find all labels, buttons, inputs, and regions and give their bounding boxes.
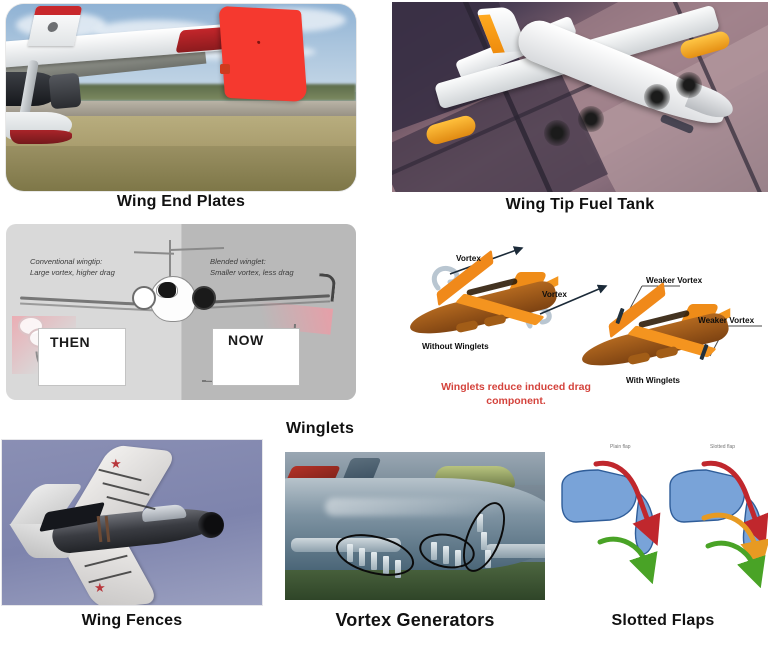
wing-fences-image: ★ ★ <box>2 440 262 605</box>
label-with-winglets: With Winglets <box>626 376 680 385</box>
caption-winglets: Winglets <box>240 420 400 438</box>
label-vortex-2: Vortex <box>542 290 567 299</box>
caption-slotted-flaps: Slotted Flaps <box>558 612 768 630</box>
engine-left <box>132 286 156 310</box>
fin-logo-icon <box>47 22 59 32</box>
runway-marker-cone <box>220 64 230 74</box>
engine-dark-left <box>158 282 176 298</box>
slotted-flaps-diagram: Plain flap Slotted flap <box>558 436 768 608</box>
caption-vortex-generators: Vortex Generators <box>285 610 545 631</box>
red-star-insignia: ★ <box>94 580 106 596</box>
slotted-flaps-svg <box>558 436 768 608</box>
wing-pod <box>49 73 82 109</box>
horizontal-stabilizer-left <box>134 251 174 254</box>
label-conventional-wingtip: Conventional wingtip: Large vortex, high… <box>30 256 115 278</box>
propeller <box>676 72 702 98</box>
rivet-dot <box>257 41 260 44</box>
propeller <box>544 120 570 146</box>
note-winglets-reduce-drag: Winglets reduce induced drag component. <box>416 380 616 408</box>
caption-wing-end-plates: Wing End Plates <box>6 193 356 211</box>
label-without-winglets: Without Winglets <box>422 342 489 351</box>
vortex-generators-image <box>285 452 545 600</box>
propeller <box>644 84 670 110</box>
red-star-insignia: ★ <box>110 456 122 472</box>
label-weaker-vortex-2: Weaker Vortex <box>698 316 754 325</box>
wing-tip-fuel-tank-image <box>392 2 768 192</box>
label-now: NOW <box>228 332 264 348</box>
fin-red-cap <box>34 6 82 15</box>
caption-wing-fences: Wing Fences <box>2 612 262 630</box>
nose-intake <box>197 511 226 540</box>
winglets-vortex-diagram: Vortex Vortex Weaker Vortex Weaker Vorte… <box>380 228 768 418</box>
label-then: THEN <box>50 334 90 350</box>
vertical-stabilizer <box>169 240 171 280</box>
label-weaker-vortex-1: Weaker Vortex <box>646 276 702 285</box>
engine-right <box>192 286 216 310</box>
caption-wing-tip-fuel-tank: Wing Tip Fuel Tank <box>392 196 768 214</box>
propeller <box>578 106 604 132</box>
grass-field-far <box>6 146 356 191</box>
label-vortex-1: Vortex <box>456 254 481 263</box>
winglets-then-now-diagram: Conventional wingtip: Large vortex, high… <box>6 224 356 400</box>
wing-end-plate <box>219 6 308 102</box>
blended-winglet-tip <box>317 273 337 302</box>
label-blended-winglet: Blended winglet: Smaller vortex, less dr… <box>210 256 294 278</box>
wing-end-plates-image <box>6 4 356 191</box>
wheel-fairing-red <box>10 130 72 144</box>
tail-fin <box>28 6 83 46</box>
